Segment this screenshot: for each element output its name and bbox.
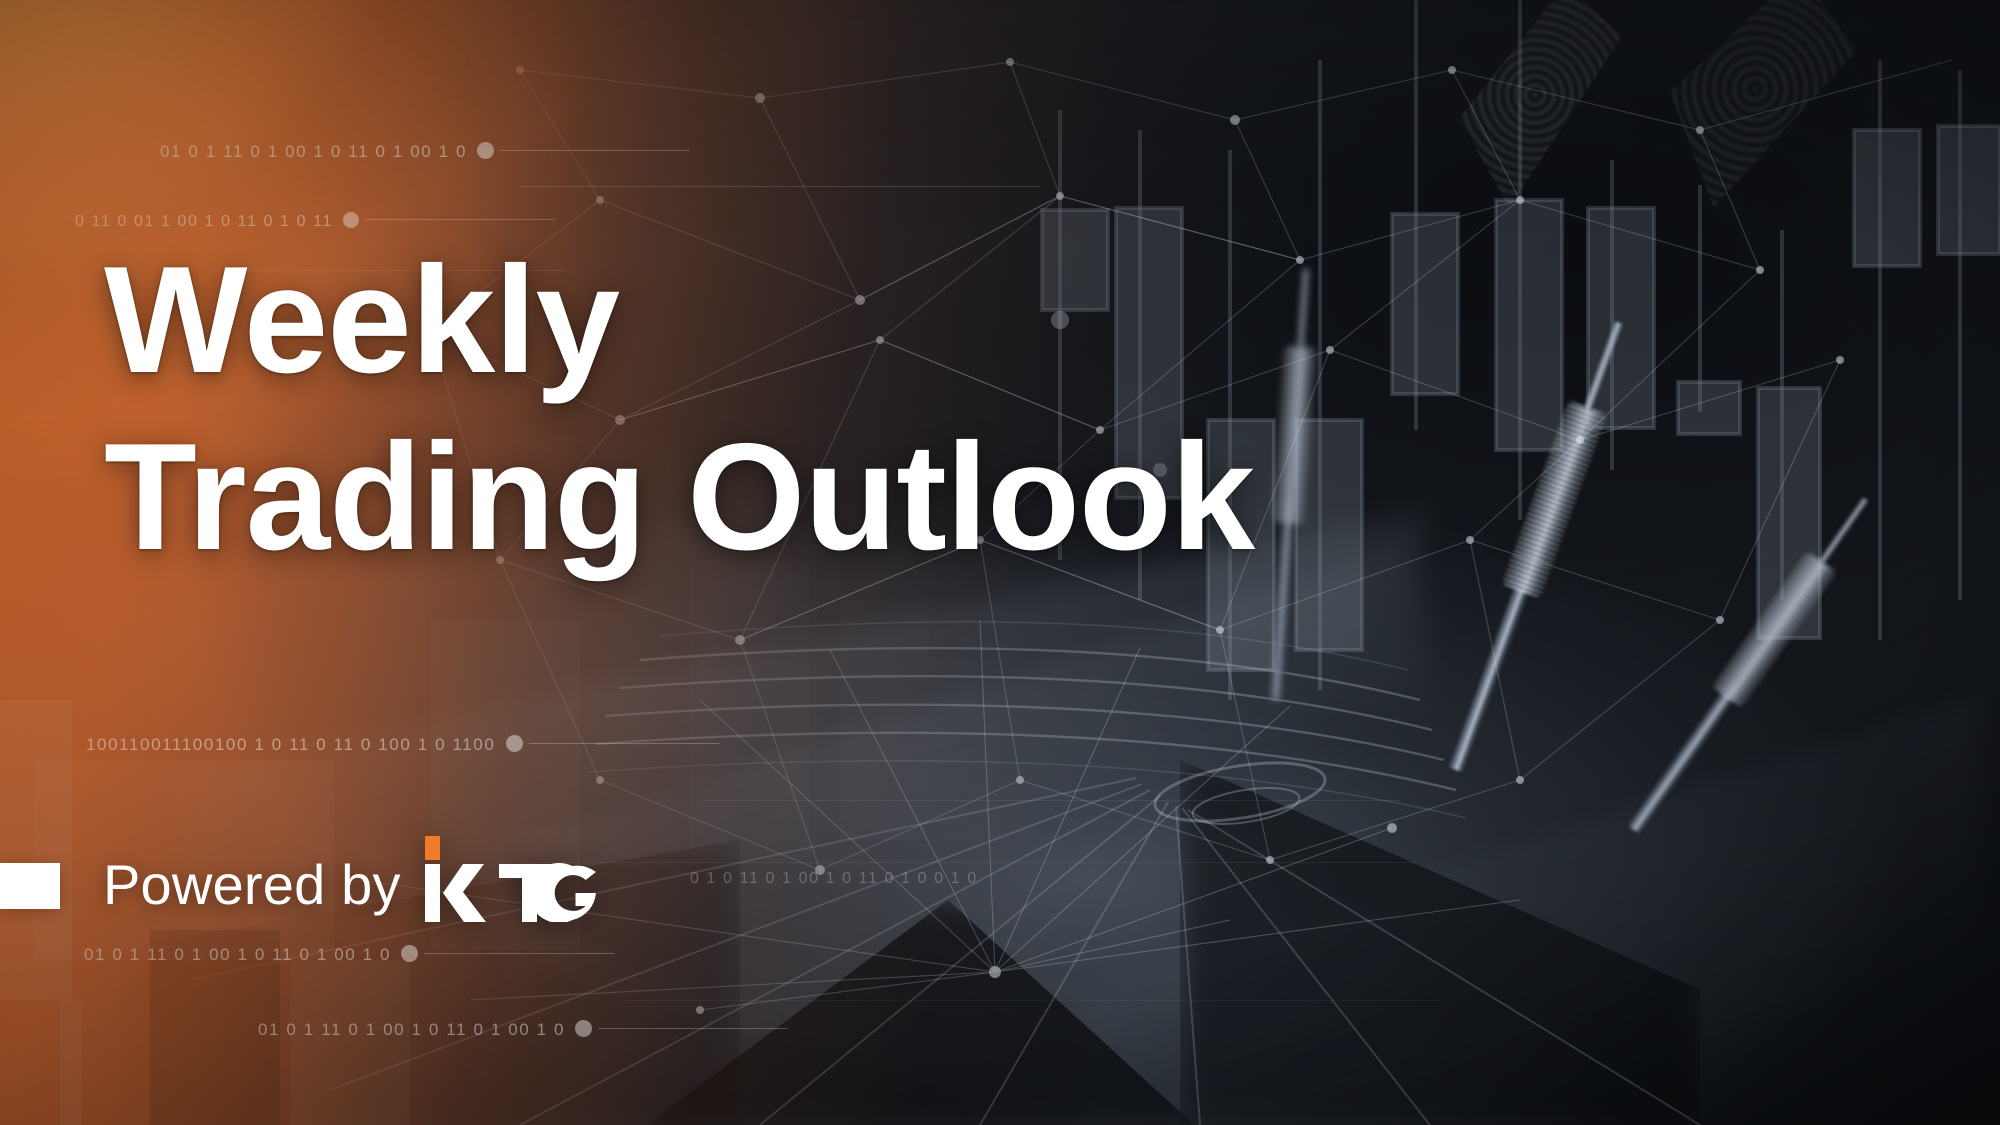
white-accent-bar	[0, 863, 60, 909]
banner-content: Weekly Trading Outlook Powered by	[0, 0, 2000, 1125]
weekly-trading-outlook-banner: 01 0 1 11 0 1 00 1 0 11 0 1 00 1 0 0 11 …	[0, 0, 2000, 1125]
headline-line-one: Weekly	[104, 232, 1254, 409]
powered-by-label: Powered by	[103, 857, 401, 916]
headline-line-two: Trading Outlook	[104, 409, 1254, 586]
ktg-logo: KTG	[423, 850, 619, 922]
powered-by-row: Powered by KTG	[0, 838, 619, 934]
page-title: Weekly Trading Outlook	[104, 232, 1254, 586]
logo-accent-tick	[425, 836, 440, 860]
